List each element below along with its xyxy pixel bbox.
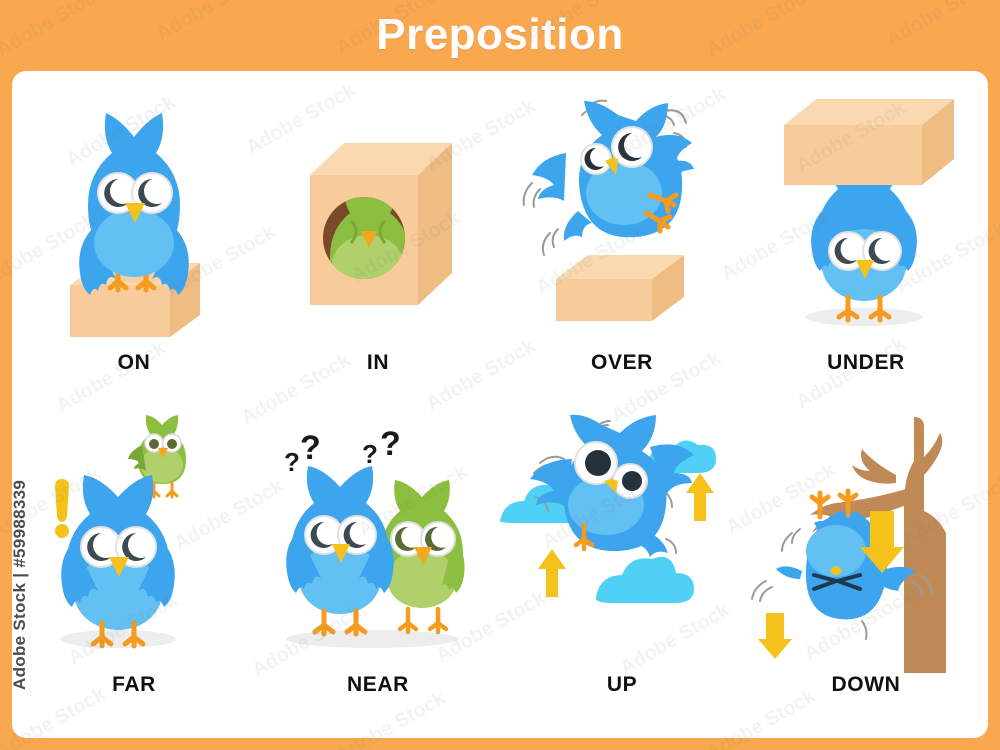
svg-text:?: ? [284,447,300,477]
preposition-card-up[interactable]: UP [500,401,744,721]
owl-flying-up-illustration [500,401,744,673]
preposition-card-under[interactable]: UNDER [744,79,988,399]
page-title: Preposition [0,0,1000,70]
svg-text:?: ? [380,425,401,463]
owl-in-box-illustration [256,79,500,351]
owls-near-each-other-illustration: ? ? ? ? [256,401,500,673]
owl-on-box-illustration [12,79,256,351]
preposition-label: UNDER [744,351,988,375]
stock-id-watermark: Adobe Stock | #59988339 [10,664,310,690]
owl-falling-down-illustration [744,401,988,673]
preposition-label: UP [500,673,744,697]
svg-text:?: ? [300,429,321,467]
preposition-label: ON [12,351,256,375]
preposition-label: OVER [500,351,744,375]
owl-over-box-illustration [500,79,744,351]
owl-under-box-illustration [744,79,988,351]
preposition-label: DOWN [744,673,988,697]
preposition-row-1: ON [12,79,988,399]
preposition-card-down[interactable]: DOWN [744,401,988,721]
preposition-card-in[interactable]: IN [256,79,500,399]
worksheet-page: Preposition [0,0,1000,750]
preposition-card-on[interactable]: ON [12,79,256,399]
preposition-card-over[interactable]: OVER [500,79,744,399]
svg-text:?: ? [362,439,378,469]
preposition-label: IN [256,351,500,375]
owls-far-apart-illustration [12,401,256,673]
worksheet-card: ON [12,71,988,738]
